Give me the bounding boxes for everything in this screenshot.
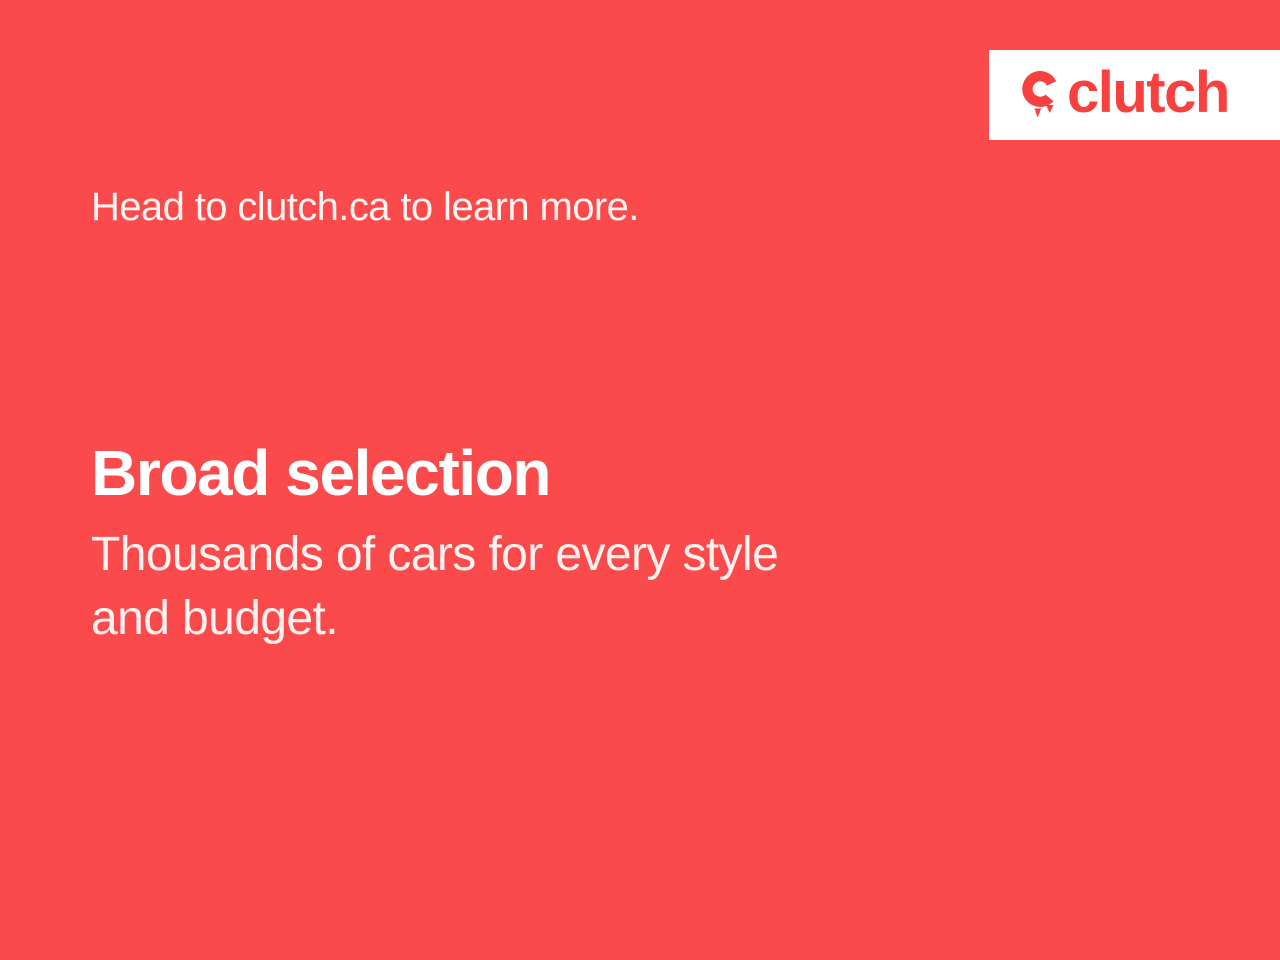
clutch-c-mark-icon xyxy=(1015,67,1065,123)
cta-eyebrow-text: Head to clutch.ca to learn more. xyxy=(91,182,639,232)
copy-block: Broad selection Thousands of cars for ev… xyxy=(91,437,1051,651)
promo-slide: clutch Head to clutch.ca to learn more. … xyxy=(0,0,1280,960)
subhead-line-2: and budget. xyxy=(91,587,1021,651)
clutch-wordmark: clutch xyxy=(1067,65,1229,121)
clutch-logo-plate[interactable]: clutch xyxy=(989,50,1280,140)
page-title: Broad selection xyxy=(91,437,1051,509)
clutch-logo-lockup[interactable]: clutch xyxy=(1015,66,1229,124)
subhead-line-1: Thousands of cars for every style xyxy=(91,523,1021,587)
subhead-text: Thousands of cars for every style and bu… xyxy=(91,523,1021,651)
